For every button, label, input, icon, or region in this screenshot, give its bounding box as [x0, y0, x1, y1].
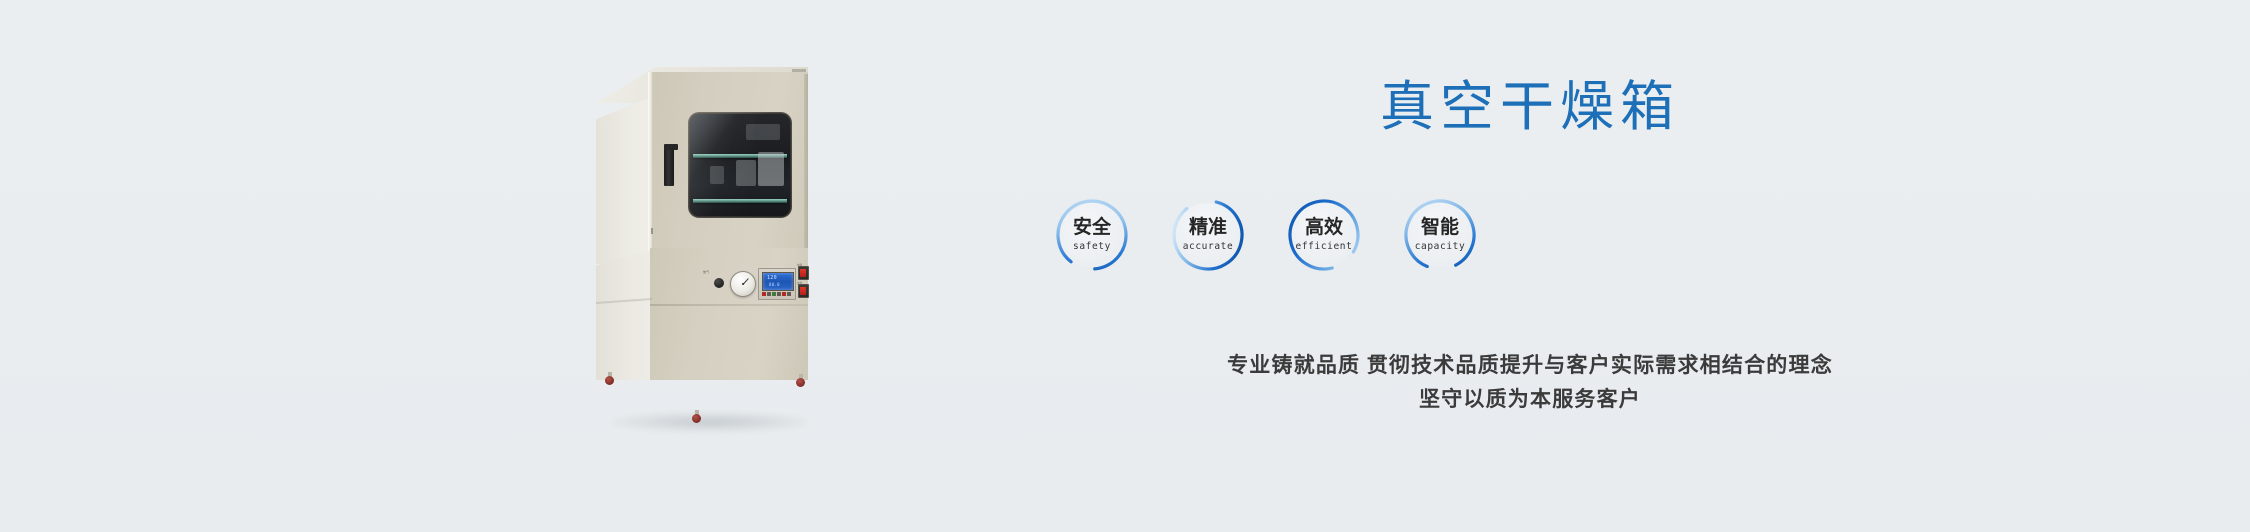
- banner-copy: 真空干燥箱: [980, 0, 2080, 532]
- product-image-vacuum-drying-oven: 放气 120 80.0 电源 加热: [560, 20, 860, 440]
- vacuum-gauge: [730, 271, 756, 297]
- badge-label-en: accurate: [1183, 241, 1234, 252]
- badge-content: 精准 accurate: [1176, 203, 1240, 267]
- badge-label-en: safety: [1073, 241, 1111, 252]
- promo-banner: 放气 120 80.0 电源 加热 真空干燥箱: [0, 0, 2250, 532]
- controller-button-row: [762, 291, 792, 297]
- badge-content: 智能 capacity: [1408, 203, 1472, 267]
- tagline-line-1: 专业铸就品质 贯彻技术品质提升与客户实际需求相结合的理念: [980, 348, 2080, 382]
- feature-badge-capacity: 智能 capacity: [1403, 198, 1477, 272]
- feature-badge-accurate: 精准 accurate: [1171, 198, 1245, 272]
- badge-label-en: efficient: [1296, 241, 1353, 252]
- vent-knob: [714, 278, 724, 288]
- feature-badge-safety: 安全 safety: [1055, 198, 1129, 272]
- oven-interior-detail: [758, 152, 784, 186]
- controller-button: [762, 292, 766, 296]
- controller-button: [782, 292, 786, 296]
- tagline-block: 专业铸就品质 贯彻技术品质提升与客户实际需求相结合的理念 坚守以质为本服务客户: [980, 348, 2080, 416]
- lcd-secondary-value: 80.0: [769, 282, 780, 287]
- controller-bezel: 120 80.0: [758, 268, 796, 300]
- vent-knob-label: 放气: [703, 270, 709, 274]
- power-switch: [798, 266, 809, 280]
- oven-left-side-panel: [596, 96, 653, 264]
- oven-right-edge: [804, 74, 808, 263]
- oven-window-glass: [690, 114, 790, 216]
- oven-window-frame: [688, 112, 792, 218]
- feature-badge-row: 安全 safety: [1055, 198, 2005, 272]
- controller-button: [772, 292, 776, 296]
- badge-label-en: capacity: [1415, 241, 1466, 252]
- badge-content: 高效 efficient: [1292, 203, 1356, 267]
- controller-button: [787, 292, 791, 296]
- controller-lcd-screen: 120 80.0: [762, 272, 794, 291]
- badge-label-cn: 安全: [1073, 218, 1111, 237]
- oven-door-edge: [648, 72, 653, 264]
- page-title: 真空干燥箱: [980, 62, 2080, 141]
- controller-button: [767, 292, 771, 296]
- badge-label-cn: 高效: [1305, 218, 1343, 237]
- heat-switch: [798, 284, 809, 298]
- product-shadow: [612, 412, 808, 432]
- caster-wheel: [605, 372, 614, 385]
- oven-door-handle: [664, 148, 674, 186]
- controller-button: [777, 292, 781, 296]
- tagline-line-2: 坚守以质为本服务客户: [980, 382, 2080, 416]
- oven-base-seam: [650, 304, 808, 306]
- oven-top-latch: [792, 69, 806, 72]
- caster-wheel: [796, 374, 805, 387]
- oven-base-left-panel: [596, 250, 653, 380]
- caster-wheel: [692, 410, 701, 423]
- feature-badge-efficient: 高效 efficient: [1287, 198, 1361, 272]
- badge-label-cn: 智能: [1421, 218, 1459, 237]
- lcd-primary-value: 120: [767, 275, 777, 281]
- badge-label-cn: 精准: [1189, 218, 1227, 237]
- oven-door-hinge: [651, 228, 653, 234]
- badge-content: 安全 safety: [1060, 203, 1124, 267]
